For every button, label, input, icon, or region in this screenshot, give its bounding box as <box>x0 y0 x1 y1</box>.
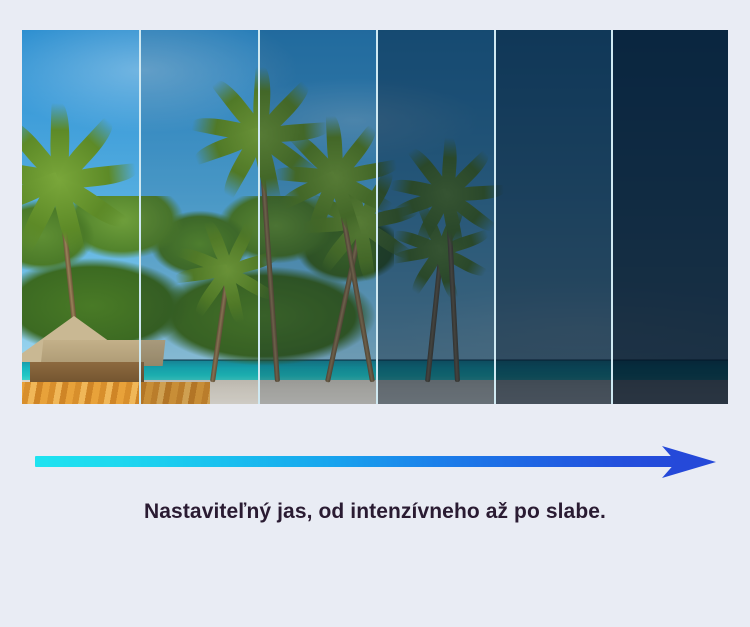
caption-text: Nastaviteľný jas, od intenzívneho až po … <box>0 500 750 524</box>
ocean-layer <box>494 360 611 382</box>
beach-loungers <box>22 382 139 404</box>
hut-roof <box>139 316 140 362</box>
brightness-panel-strip <box>22 30 728 404</box>
brightness-panel-3[interactable] <box>258 30 376 404</box>
beach-scene-layer <box>258 30 376 404</box>
ocean-layer <box>611 360 728 382</box>
brightness-panel-4[interactable] <box>376 30 494 404</box>
brightness-panel-1[interactable] <box>22 30 139 404</box>
brightness-arrow-row <box>0 444 750 488</box>
beach-loungers <box>139 382 210 404</box>
gradient-arrow-bar <box>35 456 681 467</box>
beach-scene-layer <box>139 30 258 404</box>
beach-scene-layer <box>494 30 611 404</box>
horizon-line <box>494 359 611 361</box>
beach-scene-layer <box>376 30 494 404</box>
sky-layer <box>611 30 728 404</box>
brightness-panel-2[interactable] <box>139 30 258 404</box>
brightness-panel-6[interactable] <box>611 30 728 404</box>
sky-layer <box>494 30 611 404</box>
brightness-panel-5[interactable] <box>494 30 611 404</box>
beach-sand-layer <box>611 380 728 404</box>
horizon-line <box>611 359 728 361</box>
beach-scene-layer <box>22 30 139 404</box>
beach-scene-layer <box>611 30 728 404</box>
beach-sand-layer <box>494 380 611 404</box>
arrow-head-icon <box>660 440 718 484</box>
